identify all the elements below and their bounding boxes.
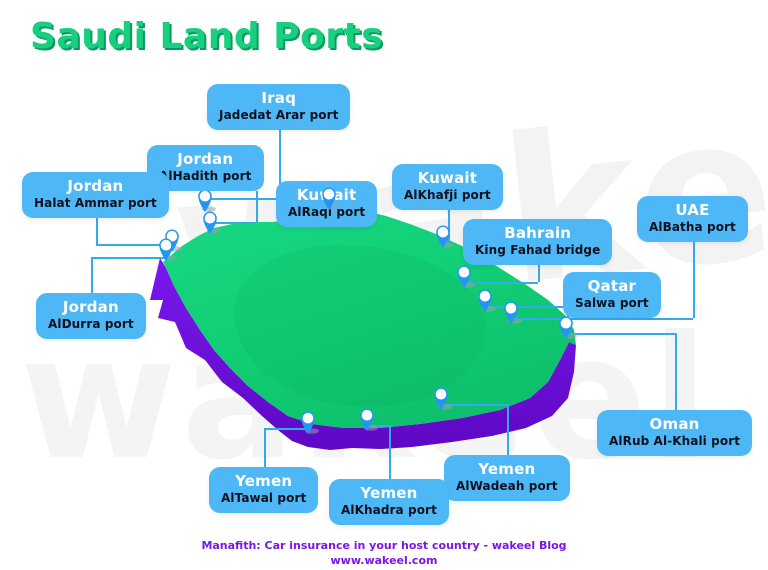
footer-line-1: Manafith: Car insurance in your host cou… <box>0 538 768 553</box>
port-country-alrub-alkhali: Oman <box>609 416 740 433</box>
connector-aldurra <box>91 257 93 293</box>
port-country-aldurra: Jordan <box>48 299 134 316</box>
port-label-king-fahad[interactable]: BahrainKing Fahad bridge <box>463 219 612 265</box>
map-pin-king-fahad[interactable] <box>454 262 474 289</box>
port-country-halat-ammar: Jordan <box>34 178 157 195</box>
connector-altawal <box>264 428 266 467</box>
port-label-jadedat-arar[interactable]: IraqJadedat Arar port <box>207 84 350 130</box>
connector-alhadith <box>256 191 258 222</box>
map-pin-alrub-alkhali[interactable] <box>556 313 576 340</box>
map-pin-albatha[interactable] <box>501 298 521 325</box>
port-country-alkhafji: Kuwait <box>404 170 491 187</box>
connector-albatha-h <box>511 318 693 320</box>
port-name-alwadeah: AlWadeah port <box>456 478 558 494</box>
port-name-king-fahad: King Fahad bridge <box>475 242 600 258</box>
connector-jadedat-arar-h <box>205 198 279 200</box>
port-country-salwa: Qatar <box>575 278 649 295</box>
map-pin-aldurra[interactable] <box>156 235 176 262</box>
port-country-alhadith: Jordan <box>159 151 252 168</box>
connector-alrub-alkhali <box>675 333 677 410</box>
port-label-albatha[interactable]: UAEAlBatha port <box>637 196 748 242</box>
port-label-alkhafji[interactable]: KuwaitAlKhafji port <box>392 164 503 210</box>
port-label-aldurra[interactable]: JordanAlDurra port <box>36 293 146 339</box>
connector-albatha <box>693 242 695 318</box>
map-pin-salwa[interactable] <box>475 286 495 313</box>
connector-aldurra-h <box>91 257 166 259</box>
port-name-alrub-alkhali: AlRub Al-Khali port <box>609 433 740 449</box>
port-label-salwa[interactable]: QatarSalwa port <box>563 272 661 318</box>
map-pin-alhadith[interactable] <box>200 208 220 235</box>
port-label-alwadeah[interactable]: YemenAlWadeah port <box>444 455 570 501</box>
footer-line-2[interactable]: www.wakeel.com <box>0 553 768 568</box>
port-name-salwa: Salwa port <box>575 295 649 311</box>
port-name-alkhafji: AlKhafji port <box>404 187 491 203</box>
connector-king-fahad-h <box>464 282 538 284</box>
port-country-altawal: Yemen <box>221 473 306 490</box>
map-pin-alwadeah[interactable] <box>431 384 451 411</box>
port-label-altawal[interactable]: YemenAlTawal port <box>209 467 318 513</box>
connector-alrub-alkhali-h <box>566 333 675 335</box>
connector-king-fahad <box>538 265 540 282</box>
map-pin-alkhafji[interactable] <box>433 222 453 249</box>
port-label-halat-ammar[interactable]: JordanHalat Ammar port <box>22 172 169 218</box>
port-name-albatha: AlBatha port <box>649 219 736 235</box>
port-name-halat-ammar: Halat Ammar port <box>34 195 157 211</box>
connector-salwa-h <box>485 306 563 308</box>
connector-halat-ammar <box>96 218 98 244</box>
port-label-alkhadra[interactable]: YemenAlKhadra port <box>329 479 449 525</box>
port-label-alrub-alkhali[interactable]: OmanAlRub Al-Khali port <box>597 410 752 456</box>
port-country-albatha: UAE <box>649 202 736 219</box>
map-pin-alraqi[interactable] <box>319 184 339 211</box>
map-pin-altawal[interactable] <box>298 408 318 435</box>
port-name-alhadith: AlHadith port <box>159 168 252 184</box>
port-country-king-fahad: Bahrain <box>475 225 600 242</box>
port-name-altawal: AlTawal port <box>221 490 306 506</box>
port-country-alkhadra: Yemen <box>341 485 437 502</box>
connector-alwadeah <box>507 404 509 455</box>
port-country-jadedat-arar: Iraq <box>219 90 338 107</box>
port-name-jadedat-arar: Jadedat Arar port <box>219 107 338 123</box>
port-country-alwadeah: Yemen <box>456 461 558 478</box>
port-name-aldurra: AlDurra port <box>48 316 134 332</box>
footer: Manafith: Car insurance in your host cou… <box>0 538 768 568</box>
port-name-alkhadra: AlKhadra port <box>341 502 437 518</box>
infographic-canvas: wakeel wakeel Saudi Land Ports <box>0 0 768 570</box>
connector-alkhadra <box>389 425 391 479</box>
map-pin-alkhadra[interactable] <box>357 405 377 432</box>
